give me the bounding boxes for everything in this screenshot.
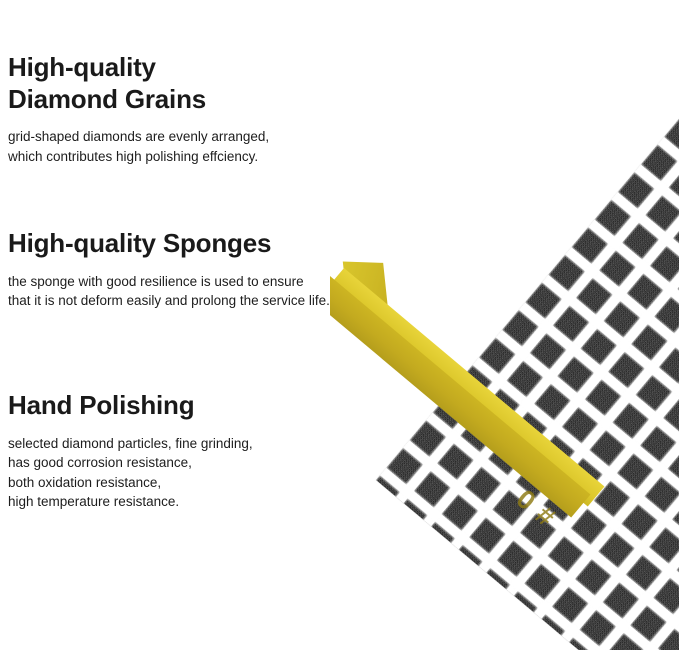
feature-body: the sponge with good resilience is used … bbox=[8, 272, 330, 311]
diamond-pad: 0 # bbox=[330, 0, 679, 650]
feature-body: grid-shaped diamonds are evenly arranged… bbox=[8, 127, 269, 166]
feature-block-sponges: High-quality Sponges the sponge with goo… bbox=[8, 228, 330, 311]
feature-text-column: High-quality Diamond Grains grid-shaped … bbox=[0, 0, 372, 650]
product-photo: 0 # bbox=[330, 0, 679, 650]
feature-body: selected diamond particles, fine grindin… bbox=[8, 434, 253, 512]
feature-heading: High-quality Sponges bbox=[8, 228, 330, 260]
feature-heading: Hand Polishing bbox=[8, 390, 253, 422]
feature-heading: High-quality Diamond Grains bbox=[8, 52, 269, 115]
feature-block-diamond-grains: High-quality Diamond Grains grid-shaped … bbox=[8, 52, 269, 167]
feature-block-hand-polishing: Hand Polishing selected diamond particle… bbox=[8, 390, 253, 512]
